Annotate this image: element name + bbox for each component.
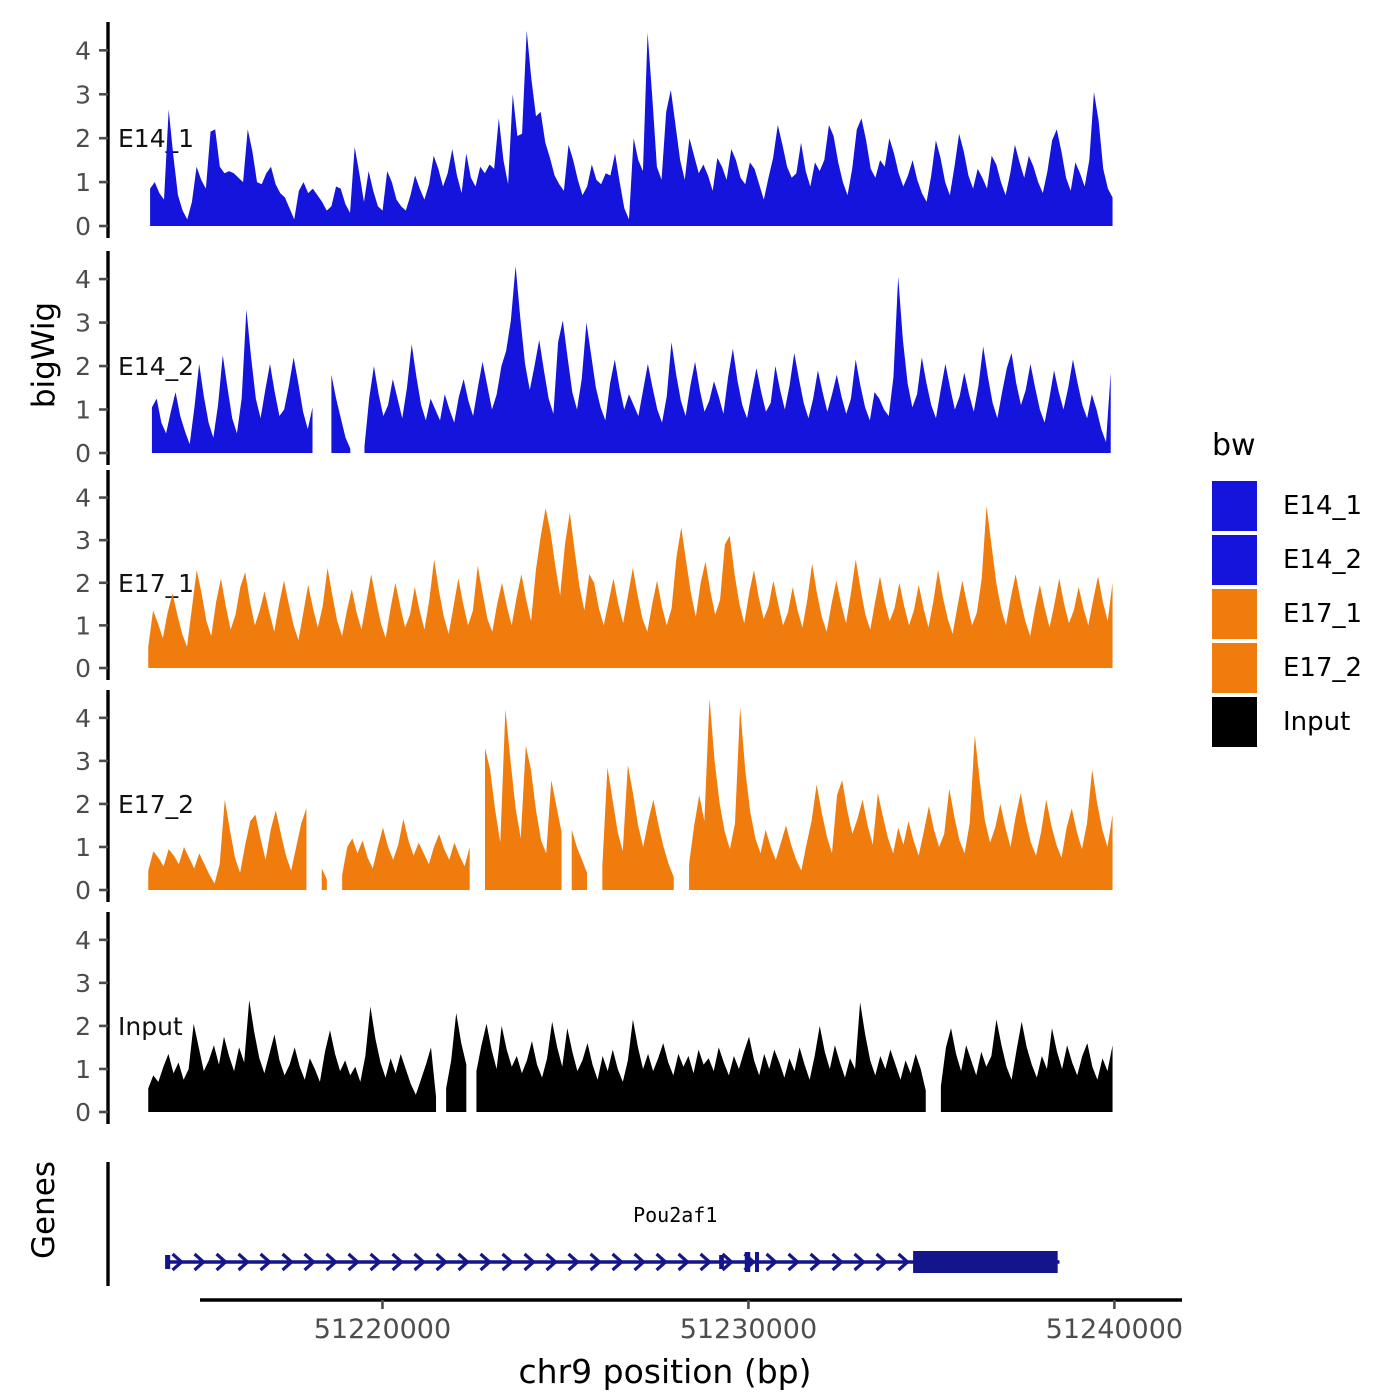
legend-swatch-e14_1 [1212, 481, 1257, 531]
track-e14_2: 01234E14_2 [75, 251, 1111, 468]
coverage-area [331, 375, 350, 453]
legend-items: E14_1E14_2E17_1E17_2Input [1212, 479, 1362, 749]
track-label-e14_1: E14_1 [118, 124, 194, 153]
track-e17_1: 01234E17_1 [75, 470, 1112, 683]
y-tick-label: 2 [75, 1012, 91, 1041]
gene-exon-block [913, 1251, 1058, 1273]
track-label-e17_1: E17_1 [118, 569, 194, 598]
legend: bw E14_1E14_2E17_1E17_2Input [1212, 428, 1362, 749]
coverage-area [152, 310, 313, 453]
y-tick-label: 0 [75, 654, 91, 683]
coverage-area [572, 830, 587, 890]
legend-swatch-e17_2 [1212, 643, 1257, 693]
track-label-e14_2: E14_2 [118, 352, 194, 381]
y-tick-label: 1 [75, 611, 91, 640]
y-tick-label: 3 [75, 80, 91, 109]
y-tick-label: 3 [75, 526, 91, 555]
coverage-area [148, 1000, 436, 1112]
legend-title: bw [1212, 428, 1362, 463]
legend-item-e17_1[interactable]: E17_1 [1212, 587, 1362, 641]
y-tick-label: 4 [75, 484, 91, 513]
y-tick-label: 2 [75, 124, 91, 153]
gene-exon-block [165, 1255, 170, 1269]
y-tick-label: 4 [75, 926, 91, 955]
coverage-area [148, 506, 1112, 668]
legend-item-e14_1[interactable]: E14_1 [1212, 479, 1362, 533]
track-label-e17_2: E17_2 [118, 790, 194, 819]
coverage-area [322, 868, 327, 890]
legend-swatch-e14_2 [1212, 535, 1257, 585]
track-input: 01234Input [75, 912, 1112, 1127]
y-tick-label: 1 [75, 833, 91, 862]
coverage-area [602, 765, 673, 890]
y-tick-label: 1 [75, 1055, 91, 1084]
legend-item-input[interactable]: Input [1212, 695, 1362, 749]
y-tick-label: 1 [75, 168, 91, 197]
track-label-input: Input [118, 1012, 183, 1041]
y-tick-label: 0 [75, 876, 91, 905]
legend-label-e14_2: E14_2 [1283, 545, 1362, 575]
x-axis-title: chr9 position (bp) [200, 1352, 1130, 1391]
legend-swatch-input [1212, 697, 1257, 747]
coverage-area [941, 1019, 1113, 1112]
coverage-area [364, 266, 1110, 453]
coverage-area [150, 31, 1112, 226]
y-tick-label: 3 [75, 747, 91, 776]
x-tick-label: 51230000 [680, 1314, 817, 1345]
track-e14_1: 01234E14_1 [75, 22, 1112, 241]
y-tick-label: 2 [75, 352, 91, 381]
legend-label-e14_1: E14_1 [1283, 491, 1362, 521]
y-tick-label: 4 [75, 36, 91, 65]
gene-exon-block [719, 1255, 724, 1269]
legend-swatch-e17_1 [1212, 589, 1257, 639]
y-tick-label: 3 [75, 309, 91, 338]
gene-exon-block [745, 1252, 750, 1272]
coverage-area [485, 709, 562, 890]
gene-track-panel: Pou2af1 [108, 1162, 1059, 1286]
track-e17_2: 01234E17_2 [75, 690, 1112, 905]
y-tick-label: 1 [75, 396, 91, 425]
gene-name-label: Pou2af1 [633, 1203, 717, 1227]
x-axis: 512200005123000051240000 [200, 1300, 1183, 1345]
y-tick-label: 0 [75, 1098, 91, 1127]
y-tick-label: 3 [75, 969, 91, 998]
coverage-area [446, 1013, 466, 1112]
y-tick-label: 4 [75, 265, 91, 294]
gene-exon-block [755, 1252, 759, 1272]
x-tick-label: 51220000 [314, 1314, 451, 1345]
legend-item-e14_2[interactable]: E14_2 [1212, 533, 1362, 587]
y-tick-label: 0 [75, 439, 91, 468]
coverage-plot: 01234E14_101234E14_201234E17_101234E17_2… [0, 0, 1190, 1400]
y-tick-label: 2 [75, 790, 91, 819]
coverage-area [476, 1002, 925, 1112]
legend-label-e17_2: E17_2 [1283, 653, 1362, 683]
x-tick-label: 51240000 [1046, 1314, 1183, 1345]
coverage-area [342, 819, 470, 890]
legend-label-input: Input [1283, 707, 1350, 737]
legend-label-e17_1: E17_1 [1283, 599, 1362, 629]
y-tick-label: 4 [75, 704, 91, 733]
y-tick-label: 0 [75, 212, 91, 241]
y-tick-label: 2 [75, 569, 91, 598]
legend-item-e17_2[interactable]: E17_2 [1212, 641, 1362, 695]
figure-root: bigWig Genes 01234E14_101234E14_201234E1… [0, 0, 1400, 1400]
coverage-area [689, 698, 1112, 890]
